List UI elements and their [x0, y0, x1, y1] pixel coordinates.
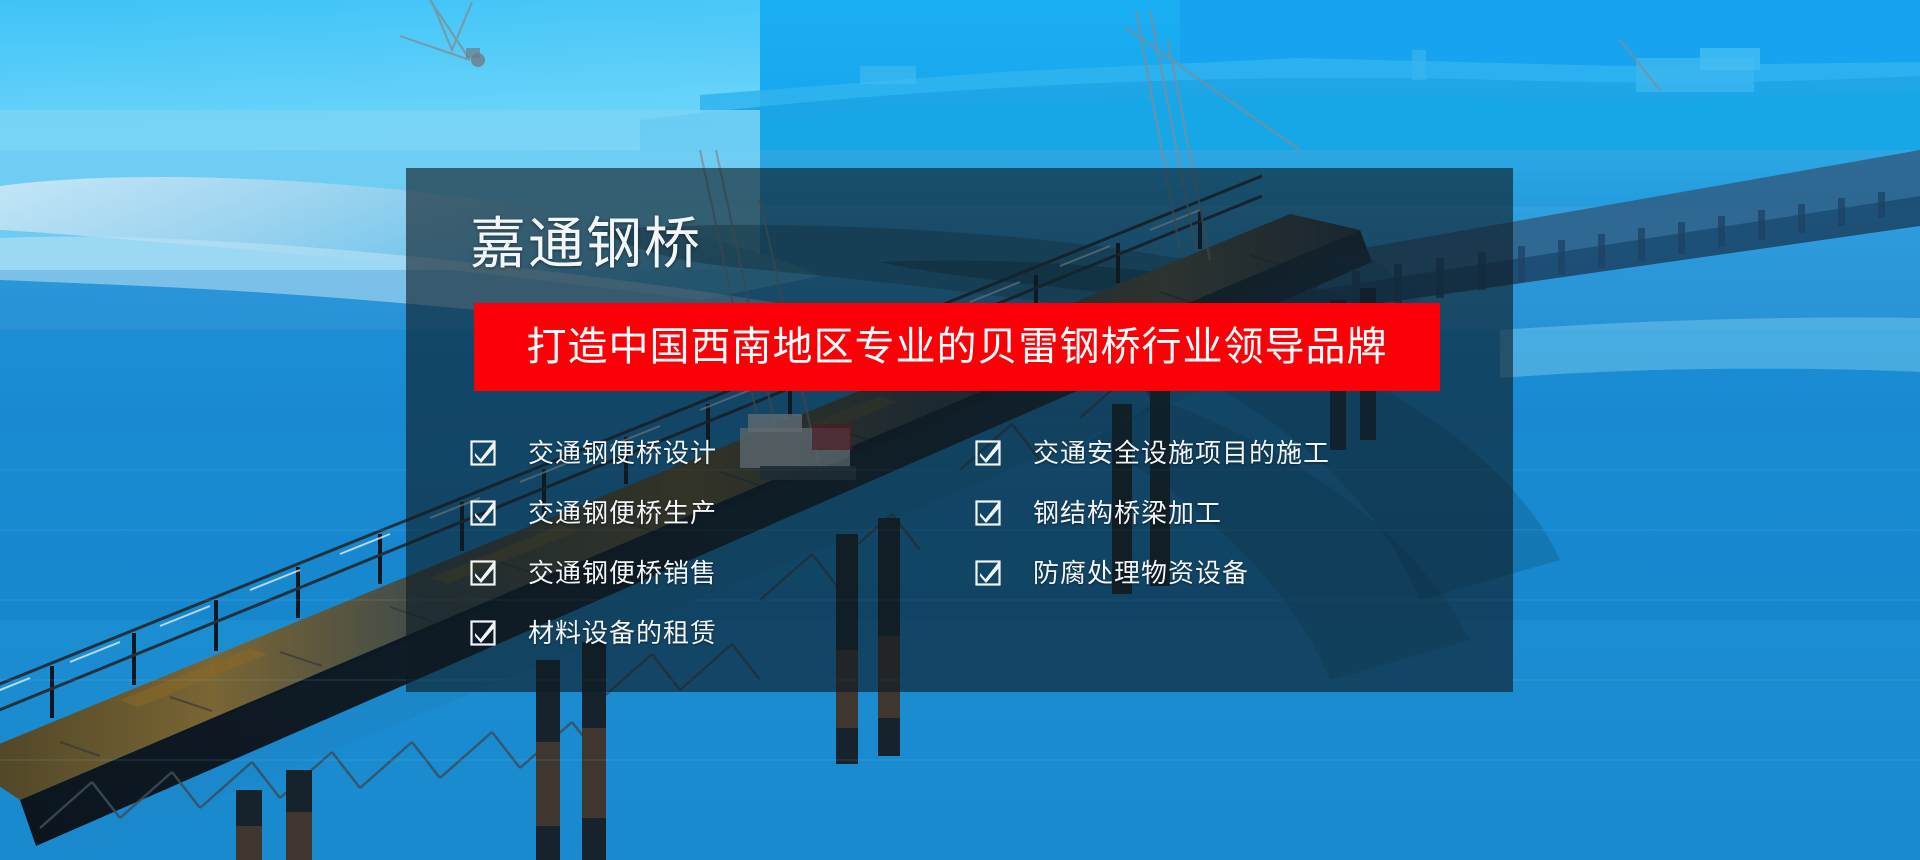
list-item[interactable]: 材料设备的租赁 [456, 603, 961, 663]
checkbox-checked-icon [975, 560, 1001, 586]
list-item-label: 防腐处理物资设备 [1033, 558, 1249, 588]
checkbox-checked-icon [470, 620, 496, 646]
list-item[interactable]: 交通钢便桥生产 [456, 483, 961, 543]
slogan-text: 打造中国西南地区专业的贝雷钢桥行业领导品牌 [527, 325, 1388, 369]
checkbox-checked-icon [470, 440, 496, 466]
list-item-label: 交通钢便桥设计 [528, 438, 717, 468]
checkbox-checked-icon [470, 560, 496, 586]
list-item[interactable]: 交通钢便桥销售 [456, 543, 961, 603]
list-item[interactable]: 交通安全设施项目的施工 [961, 423, 1466, 483]
services-checklist: 交通钢便桥设计 交通安全设施项目的施工 交通 [456, 423, 1466, 663]
list-item-label: 交通钢便桥销售 [528, 558, 717, 588]
list-item-label: 钢结构桥梁加工 [1033, 498, 1222, 528]
list-item[interactable]: 防腐处理物资设备 [961, 543, 1466, 603]
checkbox-checked-icon [470, 500, 496, 526]
list-item[interactable]: 交通钢便桥设计 [456, 423, 961, 483]
list-item-label: 交通钢便桥生产 [528, 498, 717, 528]
list-item[interactable]: 钢结构桥梁加工 [961, 483, 1466, 543]
hero-content-panel: 嘉通钢桥 打造中国西南地区专业的贝雷钢桥行业领导品牌 交通钢便桥设计 [406, 168, 1513, 692]
list-item-label: 材料设备的租赁 [528, 618, 717, 648]
slogan-banner: 打造中国西南地区专业的贝雷钢桥行业领导品牌 [474, 303, 1440, 391]
checkbox-checked-icon [975, 440, 1001, 466]
list-item-label: 交通安全设施项目的施工 [1033, 438, 1330, 468]
page-title: 嘉通钢桥 [470, 214, 702, 274]
hero-banner-section: 嘉通钢桥 打造中国西南地区专业的贝雷钢桥行业领导品牌 交通钢便桥设计 [0, 0, 1920, 860]
checkbox-checked-icon [975, 500, 1001, 526]
